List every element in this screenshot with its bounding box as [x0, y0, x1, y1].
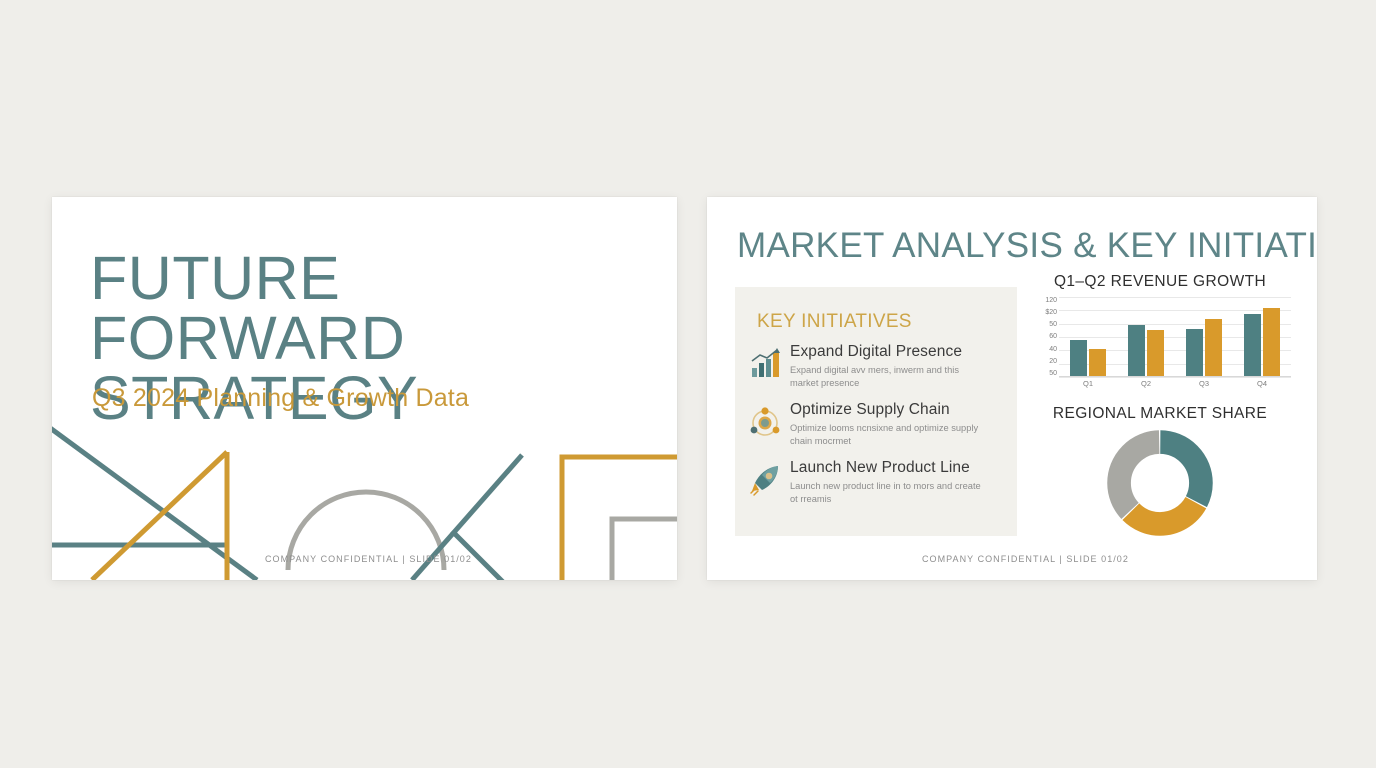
slide-footer: COMPANY CONFIDENTIAL | SLIDE 01/02 — [265, 554, 472, 564]
initiative-description: Optimize looms ncnsixne and optimize sup… — [790, 422, 986, 448]
bar — [1205, 319, 1222, 376]
list-item[interactable]: Expand Digital Presence Expand digital a… — [748, 343, 1006, 390]
page-title: MARKET ANALYSIS & KEY INITIATIVES — [737, 226, 1317, 266]
bar-group — [1186, 319, 1222, 376]
y-tick-label: 50 — [1049, 321, 1057, 328]
y-tick-label: 50 — [1049, 370, 1057, 377]
bar-chart-plot — [1059, 297, 1291, 377]
initiative-title: Expand Digital Presence — [790, 343, 1006, 362]
donut-chart-block: REGIONAL MARKET SHARE — [1029, 405, 1291, 537]
slide-market-analysis[interactable]: MARKET ANALYSIS & KEY INITIATIVES KEY IN… — [707, 197, 1317, 580]
bar — [1070, 340, 1087, 376]
initiative-title: Launch New Product Line — [790, 459, 1006, 478]
bar-group — [1128, 325, 1164, 376]
x-tick-label: Q2 — [1141, 379, 1151, 388]
slide-title[interactable]: FUTURE FORWARD STRATEGY Q3 2024 Planning… — [52, 197, 677, 580]
supply-network-icon — [748, 401, 781, 437]
growth-chart-icon — [748, 343, 781, 379]
bar — [1147, 330, 1164, 376]
title-line-1: FUTURE FORWARD — [90, 244, 405, 372]
initiative-title: Optimize Supply Chain — [790, 401, 1006, 420]
bar — [1263, 308, 1280, 376]
bar-chart-block: Q1–Q2 REVENUE GROWTH 120$205060402050 Q1… — [1029, 273, 1291, 389]
initiative-description: Launch new product line in to mors and c… — [790, 480, 986, 506]
y-tick-label: 20 — [1049, 358, 1057, 365]
bar-chart-title: Q1–Q2 REVENUE GROWTH — [1029, 273, 1291, 291]
list-item[interactable]: Launch New Product Line Launch new produ… — [748, 459, 1006, 506]
bar-chart[interactable]: 120$205060402050 Q1Q2Q3Q4 — [1031, 297, 1291, 389]
y-tick-label: 40 — [1049, 346, 1057, 353]
bar — [1128, 325, 1145, 376]
x-tick-label: Q4 — [1257, 379, 1267, 388]
x-tick-label: Q3 — [1199, 379, 1209, 388]
donut-chart[interactable] — [1106, 429, 1214, 537]
charts-column: Q1–Q2 REVENUE GROWTH 120$205060402050 Q1… — [1029, 273, 1291, 537]
initiatives-list: Expand Digital Presence Expand digital a… — [748, 343, 1006, 517]
rocket-icon — [748, 459, 781, 495]
bar-group — [1070, 340, 1106, 376]
x-tick-label: Q1 — [1083, 379, 1093, 388]
presentation-canvas: FUTURE FORWARD STRATEGY Q3 2024 Planning… — [0, 0, 1376, 768]
bar — [1089, 349, 1106, 376]
bar — [1244, 314, 1261, 376]
y-tick-label: 60 — [1049, 333, 1057, 340]
subtitle: Q3 2024 Planning & Growth Data — [92, 384, 469, 413]
panel-heading: KEY INITIATIVES — [757, 311, 912, 333]
bar-chart-x-axis: Q1Q2Q3Q4 — [1059, 379, 1291, 388]
bar-chart-bars — [1059, 297, 1291, 376]
list-item[interactable]: Optimize Supply Chain Optimize looms ncn… — [748, 401, 1006, 448]
donut-chart-title: REGIONAL MARKET SHARE — [1029, 405, 1291, 423]
bar — [1186, 329, 1203, 376]
bar-group — [1244, 308, 1280, 376]
y-tick-label: $20 — [1045, 309, 1057, 316]
key-initiatives-panel: KEY INITIATIVES — [735, 287, 1017, 536]
bar-chart-y-axis: 120$205060402050 — [1031, 297, 1057, 377]
slide-footer: COMPANY CONFIDENTIAL | SLIDE 01/02 — [922, 554, 1129, 564]
y-tick-label: 120 — [1045, 297, 1057, 304]
initiative-description: Expand digital avv mers, inwerm and this… — [790, 364, 986, 390]
